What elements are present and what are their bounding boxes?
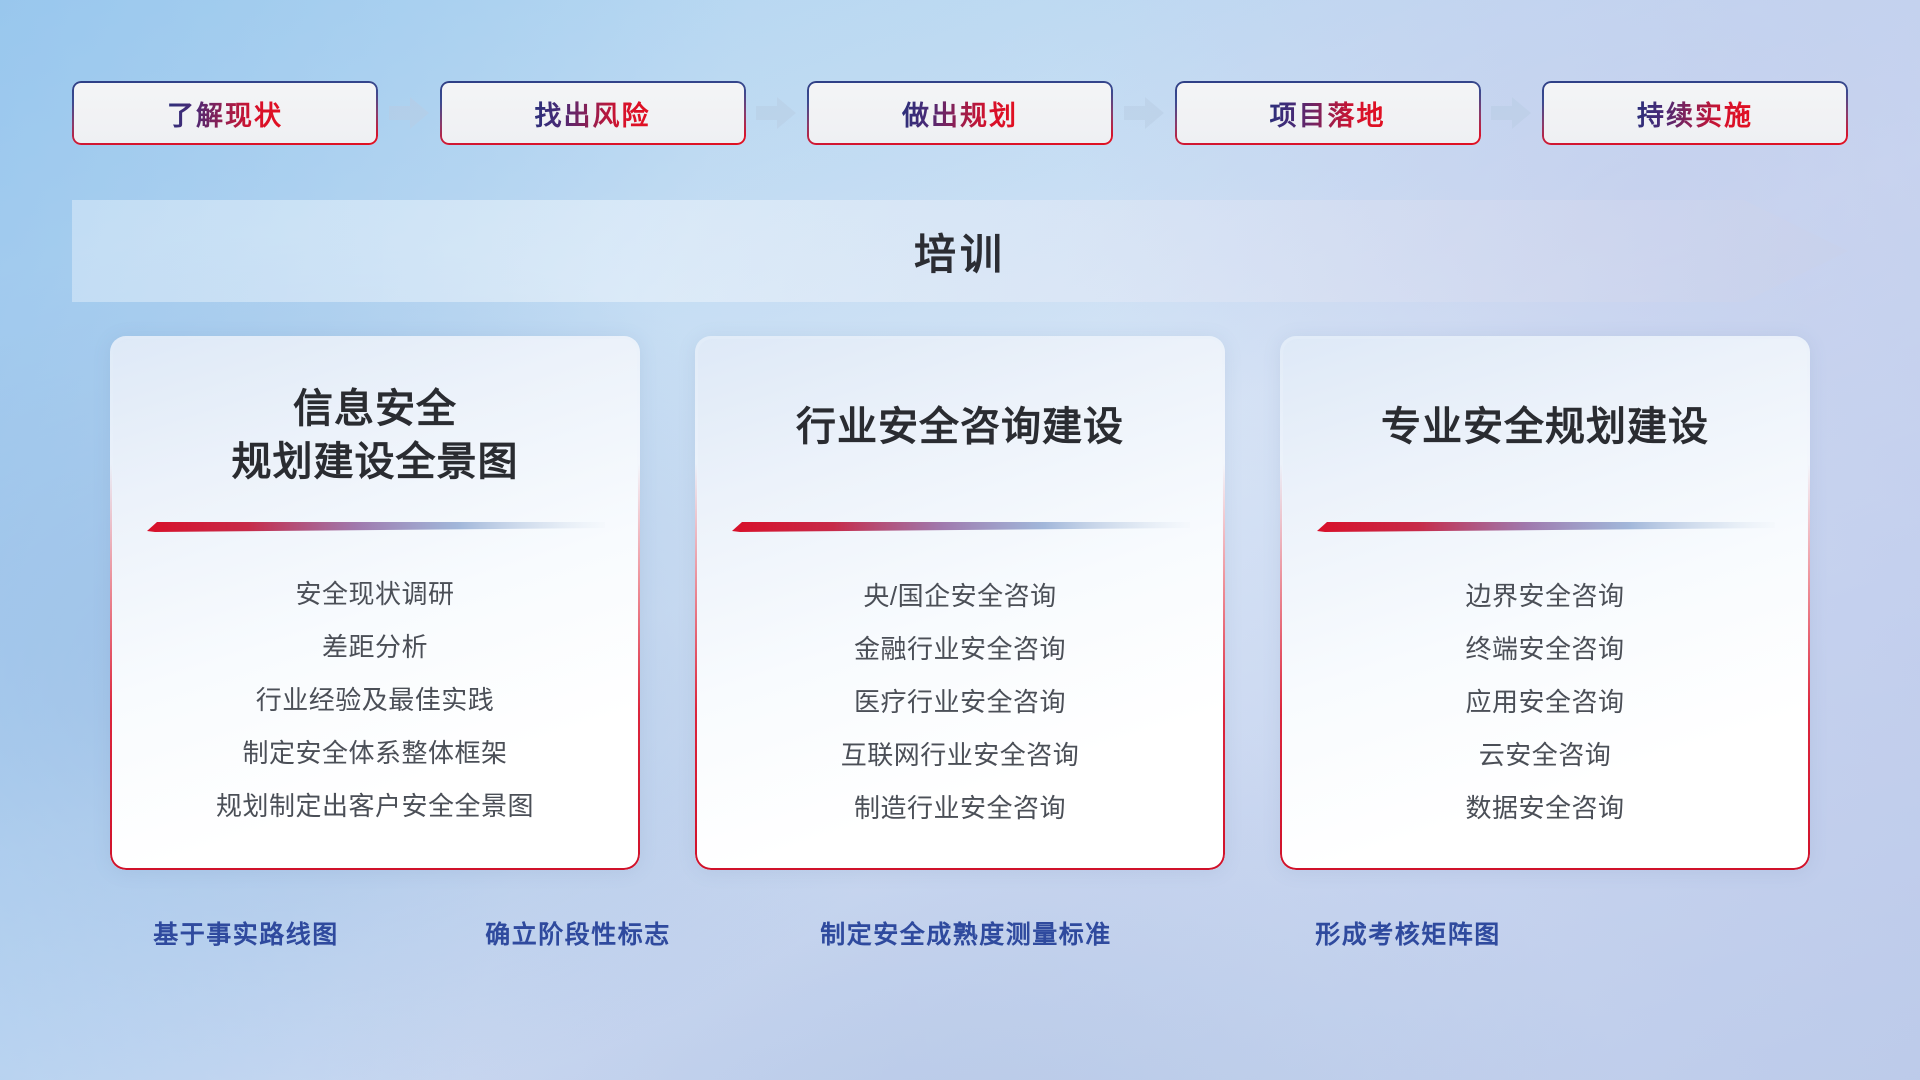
step-label-4: 项目落地	[1270, 94, 1386, 133]
caption-row: 基于事实路线图 确立阶段性标志 制定安全成熟度测量标准 形成考核矩阵图	[0, 915, 1920, 959]
divider-gradient-bar	[147, 521, 605, 533]
list-item: 央/国企安全咨询	[698, 583, 1222, 609]
list-item: 边界安全咨询	[1283, 583, 1807, 609]
card-inner: 专业安全规划建设	[1283, 339, 1807, 867]
list-item: 行业经验及最佳实践	[113, 687, 637, 713]
card-professional-security-planning[interactable]: 专业安全规划建设	[1280, 336, 1810, 870]
list-item: 安全现状调研	[113, 581, 637, 607]
card-divider	[732, 521, 1190, 533]
card-item-list: 央/国企安全咨询 金融行业安全咨询 医疗行业安全咨询 互联网行业安全咨询 制造行…	[698, 583, 1222, 821]
banner-title: 培训	[72, 200, 1848, 302]
step-box-3[interactable]: 做出规划	[807, 81, 1113, 145]
list-item: 医疗行业安全咨询	[698, 689, 1222, 715]
arrow-right-icon	[1491, 96, 1531, 130]
list-item: 云安全咨询	[1283, 742, 1807, 768]
list-item: 互联网行业安全咨询	[698, 742, 1222, 768]
process-step-row: 了解现状 找出风险 做出规划 项目落地 持续实施	[72, 80, 1848, 146]
list-item: 金融行业安全咨询	[698, 636, 1222, 662]
card-title-line: 信息安全	[133, 383, 617, 436]
arrow-right-icon	[389, 96, 429, 130]
card-divider	[147, 521, 605, 533]
list-item: 数据安全咨询	[1283, 795, 1807, 821]
card-inner: 行业安全咨询建设	[698, 339, 1222, 867]
card-title-line: 专业安全规划建设	[1303, 401, 1787, 454]
list-item: 差距分析	[113, 634, 637, 660]
list-item: 应用安全咨询	[1283, 689, 1807, 715]
card-row: 信息安全 规划建设全景图	[110, 336, 1810, 870]
step-label-1: 了解现状	[167, 94, 283, 133]
list-item: 制造行业安全咨询	[698, 795, 1222, 821]
step-box-5[interactable]: 持续实施	[1542, 81, 1848, 145]
card-title: 行业安全咨询建设	[698, 401, 1222, 454]
step-box-2[interactable]: 找出风险	[440, 81, 746, 145]
step-label-3: 做出规划	[902, 94, 1018, 133]
training-banner: 培训	[72, 200, 1848, 302]
divider-gradient-bar	[732, 521, 1190, 533]
card-title-line: 规划建设全景图	[133, 436, 617, 489]
card-title-line: 行业安全咨询建设	[718, 401, 1202, 454]
step-label-5: 持续实施	[1637, 94, 1753, 133]
list-item: 终端安全咨询	[1283, 636, 1807, 662]
arrow-right-icon	[1124, 96, 1164, 130]
caption-2: 确立阶段性标志	[485, 915, 671, 951]
card-industry-security-consulting[interactable]: 行业安全咨询建设	[695, 336, 1225, 870]
card-title: 专业安全规划建设	[1283, 401, 1807, 454]
step-box-1[interactable]: 了解现状	[72, 81, 378, 145]
card-information-security-panorama[interactable]: 信息安全 规划建设全景图	[110, 336, 640, 870]
caption-1: 基于事实路线图	[153, 915, 339, 951]
step-box-4[interactable]: 项目落地	[1175, 81, 1481, 145]
card-title: 信息安全 规划建设全景图	[113, 383, 637, 489]
card-divider	[1317, 521, 1775, 533]
list-item: 制定安全体系整体框架	[113, 740, 637, 766]
arrow-right-icon	[756, 96, 796, 130]
step-label-2: 找出风险	[535, 94, 651, 133]
card-item-list: 边界安全咨询 终端安全咨询 应用安全咨询 云安全咨询 数据安全咨询	[1283, 583, 1807, 821]
caption-4: 形成考核矩阵图	[1315, 915, 1501, 951]
caption-3: 制定安全成熟度测量标准	[820, 915, 1112, 951]
list-item: 规划制定出客户安全全景图	[113, 793, 637, 819]
divider-gradient-bar	[1317, 521, 1775, 533]
card-inner: 信息安全 规划建设全景图	[113, 339, 637, 867]
card-item-list: 安全现状调研 差距分析 行业经验及最佳实践 制定安全体系整体框架 规划制定出客户…	[113, 581, 637, 819]
